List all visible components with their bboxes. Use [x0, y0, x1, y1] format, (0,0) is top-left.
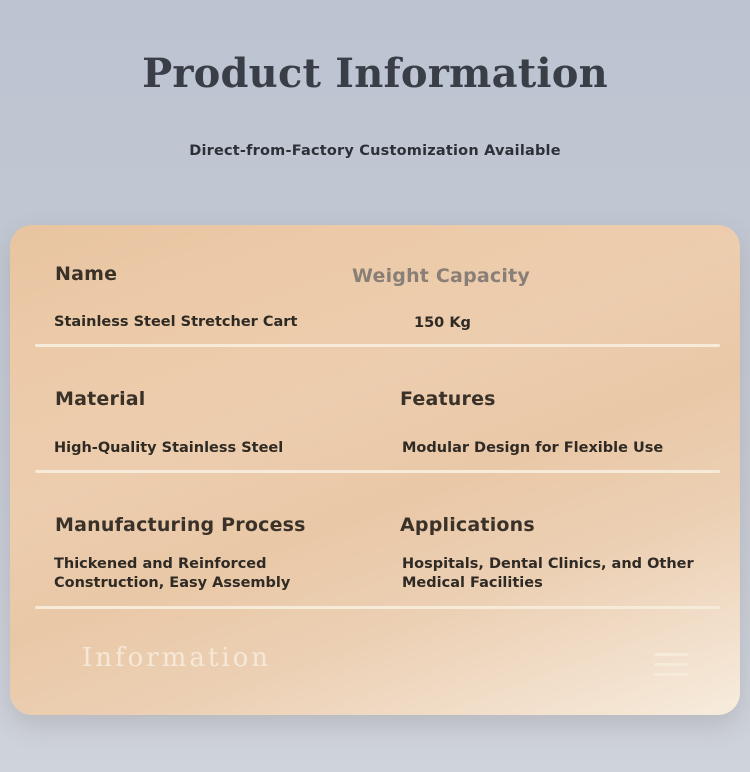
product-information-page: Product Information Direct-from-Factory … — [0, 0, 750, 772]
spec-label-material: Material — [55, 388, 146, 410]
spec-label-manufacturing-process: Manufacturing Process — [55, 514, 306, 536]
spec-value-name: Stainless Steel Stretcher Cart — [54, 313, 297, 332]
hamburger-bar — [654, 653, 688, 656]
spec-label-features: Features — [400, 388, 496, 410]
spec-value-weight-capacity: 150 Kg — [414, 314, 471, 333]
spec-value-features: Modular Design for Flexible Use — [402, 439, 663, 458]
row-divider — [35, 344, 720, 347]
hamburger-menu-icon[interactable] — [654, 653, 688, 677]
spec-label-name: Name — [55, 263, 117, 285]
watermark-text: Information — [82, 643, 271, 673]
page-title: Product Information — [0, 50, 750, 97]
spec-value-manufacturing-process: Thickened and Reinforced Construction, E… — [54, 555, 374, 593]
spec-label-weight-capacity: Weight Capacity — [352, 265, 530, 287]
row-divider — [35, 470, 720, 473]
hamburger-bar — [654, 673, 688, 676]
spec-value-material: High-Quality Stainless Steel — [54, 439, 283, 458]
spec-value-applications: Hospitals, Dental Clinics, and Other Med… — [402, 555, 702, 593]
specification-card: Name Weight Capacity Stainless Steel Str… — [10, 225, 740, 715]
page-subtitle: Direct-from-Factory Customization Availa… — [0, 143, 750, 159]
row-divider — [35, 606, 720, 609]
hamburger-bar — [654, 663, 688, 666]
spec-label-applications: Applications — [400, 514, 535, 536]
